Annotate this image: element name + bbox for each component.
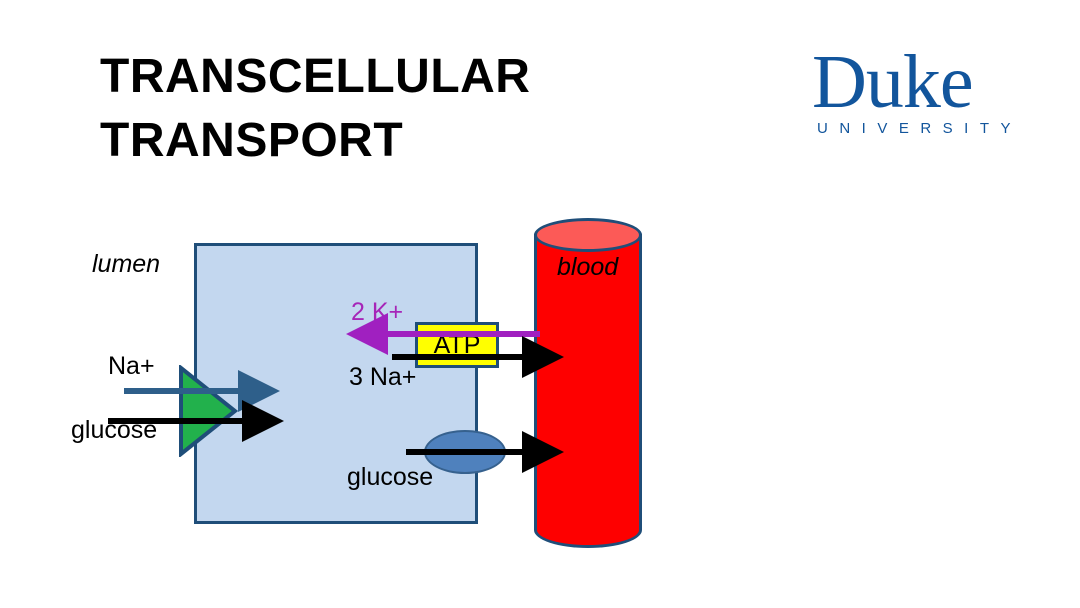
transcellular-transport-diagram: blood ATP lumen Na+ glucose 2 K+ 3 Na+ g… [0,0,1080,608]
potassium-influx-label: 2 K+ [351,298,403,327]
glucose-influx-label: glucose [71,416,157,445]
sodium-efflux-label: 3 Na+ [349,363,416,392]
sodium-influx-label: Na+ [108,352,155,381]
lumen-label: lumen [92,250,160,279]
apical-cotransporter-triangle [178,365,238,457]
slide-canvas: TRANSCELLULAR TRANSPORT Duke UNIVERSITY … [0,0,1080,608]
vessel-top-ellipse [534,218,642,252]
glucose-efflux-label: glucose [347,463,433,492]
atp-label: ATP [415,331,499,360]
blood-label: blood [557,253,618,282]
basolateral-glucose-transporter-ellipse [424,430,506,474]
